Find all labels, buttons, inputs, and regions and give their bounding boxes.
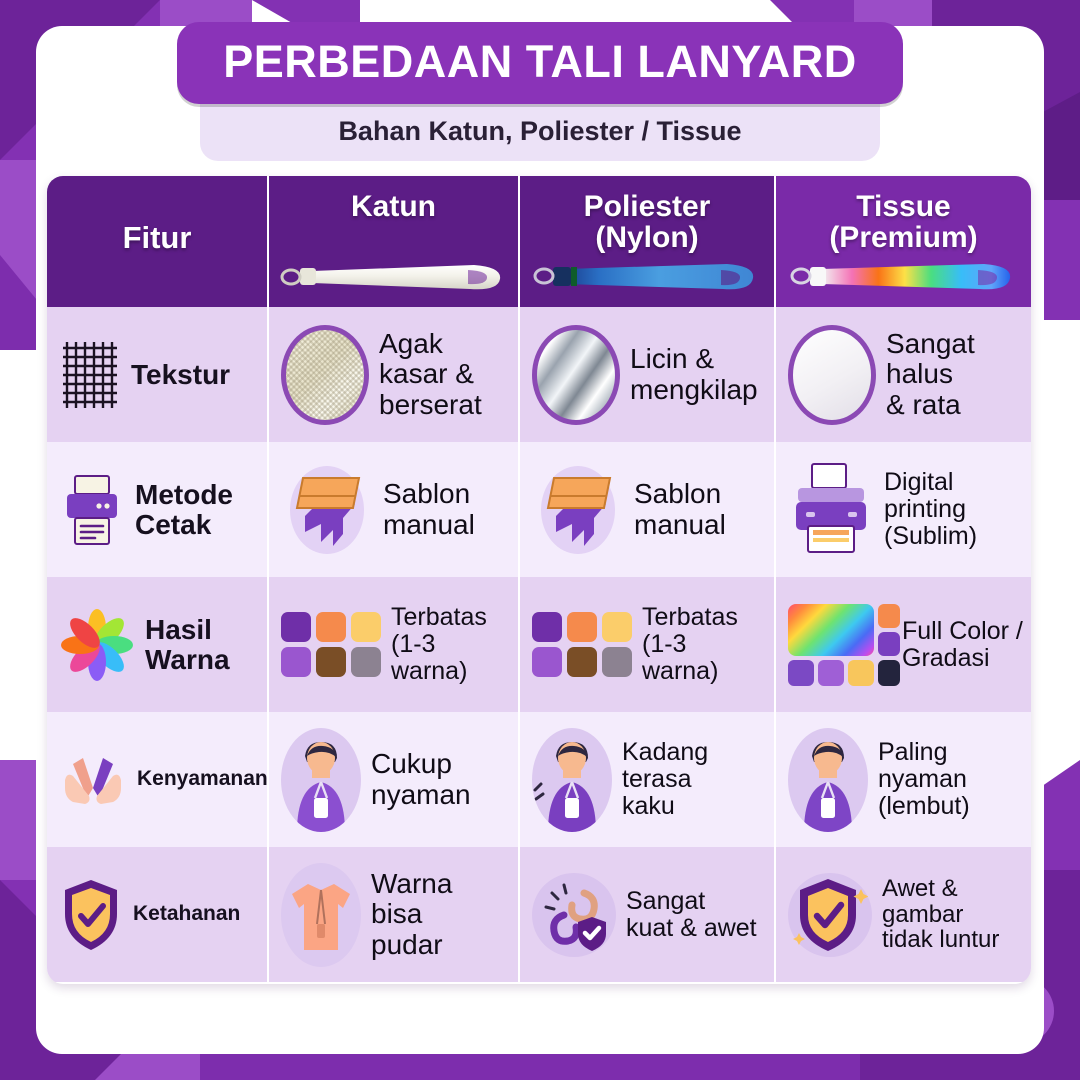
shield-figure [792,875,868,955]
value-line: manual [634,509,726,540]
chain-figure [536,877,612,953]
value-cell-poliester: Sablon manual [520,442,776,577]
column-header-tissue: Tissue (Premium) [776,176,1031,307]
color-swatch-fullcolor-icon [788,604,892,686]
column-header-label: Fitur [123,222,192,254]
page-subtitle: Bahan Katun, Poliester / Tissue [200,98,880,161]
value-line: pudar [371,929,443,960]
value-text: Kadang terasa kaku [622,739,708,820]
swatch [316,647,346,677]
value-line: Terbatas [391,603,487,631]
printer-icon [59,472,125,548]
value-line: mengkilap [630,374,758,405]
feature-cell: Ketahanan [47,847,269,982]
value-text: Terbatas (1-3 warna) [391,604,510,685]
table-row-kenyamanan: Kenyamanan Cukup nyaman [47,712,1031,847]
value-line: Digital [884,468,953,496]
feature-label: Kenyamanan [137,768,268,790]
feature-label-line: Warna [145,644,230,675]
column-header-label-line1: Tissue [856,190,951,223]
value-cell-katun: Warna bisa pudar [269,847,520,982]
shield-sparkle-icon [788,873,872,957]
value-cell-tissue: Full Color / Gradasi [776,577,1031,712]
swatch [567,612,597,642]
feature-label-line: Hasil [145,614,212,645]
woven-mesh-icon [59,336,121,414]
feature-label: Hasil Warna [145,615,230,674]
value-line: terasa [622,765,691,793]
column-header-label: Tissue (Premium) [829,192,977,253]
value-line: Paling [878,738,948,766]
value-line: kasar & [379,358,474,389]
value-text: Licin & mengkilap [630,344,758,404]
column-header-label-line2: (Nylon) [595,221,698,254]
value-line: nyaman [371,779,471,810]
lanyard-blue-nylon-icon [531,253,763,299]
value-text: Sangat kuat & awet [626,888,757,942]
value-line: kaku [622,792,675,820]
swatch [818,660,844,686]
value-cell-tissue: Digital printing (Sublim) [776,442,1031,577]
value-cell-poliester: Kadang terasa kaku [520,712,776,847]
value-line: Awet & [882,875,958,902]
value-cell-katun: Terbatas (1-3 warna) [269,577,520,712]
feature-cell: Kenyamanan [47,712,269,847]
value-line: Sangat [626,887,705,915]
swatch [532,612,562,642]
texture-swatch-cotton-icon [281,325,369,425]
value-cell-katun: Cukup nyaman [269,712,520,847]
value-text: Full Color / Gradasi [902,618,1023,672]
value-text: Awet & gambar tidak luntur [882,876,999,954]
value-cell-poliester: Sangat kuat & awet [520,847,776,982]
table-row-tekstur: Tekstur Agak kasar & berserat Licin & me… [47,307,1031,442]
person-stiff-lanyard-icon [532,728,612,832]
texture-swatch-tissue-icon [788,325,876,425]
person-comfortable-lanyard-icon [788,728,868,832]
value-line: Warna [371,868,452,899]
column-header-katun: Katun [269,176,520,307]
value-text: Sablon manual [383,479,475,539]
infographic-root: PERBEDAAN TALI LANYARD Bahan Katun, Poli… [0,0,1080,1080]
value-line: Sablon [634,478,721,509]
value-line: gambar [882,901,963,928]
table-row-hasil-warna: Hasil Warna Terbatas (1-3 warna) [47,577,1031,712]
value-line: Cukup [371,748,452,779]
value-line: halus [886,358,953,389]
swatch [602,612,632,642]
header: PERBEDAAN TALI LANYARD Bahan Katun, Poli… [0,22,1080,161]
swatch [848,660,874,686]
person-figure [532,736,612,832]
table-row-ketahanan: Ketahanan Warna bisa pudar [47,847,1031,982]
value-cell-tissue: Sangat halus & rata [776,307,1031,442]
column-header-label: Poliester (Nylon) [584,192,711,253]
value-line: printing [884,495,966,523]
swatch [316,612,346,642]
swatch [351,647,381,677]
screen-print-squeegee-icon [532,460,624,560]
person-wearing-lanyard-icon [281,728,361,832]
swatch [281,612,311,642]
lanyard-rainbow-tissue-icon [788,253,1020,299]
page-title: PERBEDAAN TALI LANYARD [177,22,903,104]
value-text: Cukup nyaman [371,749,471,809]
value-line: Gradasi [902,644,990,672]
value-line: Sablon [383,478,470,509]
swatch [878,632,900,656]
value-text: Terbatas (1-3 warna) [642,604,766,685]
value-line: (1-3 warna) [391,630,467,685]
screen-print-squeegee-icon [281,460,373,560]
column-header-label-line1: Poliester [584,190,711,223]
digital-printer-icon [788,460,874,560]
color-swatch-limited-icon [532,612,632,677]
feature-label-line: Cetak [135,509,211,540]
value-line: bisa [371,898,422,929]
value-line: (1-3 warna) [642,630,718,685]
swatch [788,660,814,686]
swatch [878,604,900,628]
color-flower-icon [59,607,135,683]
value-line: Sangat [886,328,975,359]
lanyard-white-cotton-icon [278,253,510,299]
value-cell-katun: Sablon manual [269,442,520,577]
value-cell-poliester: Licin & mengkilap [520,307,776,442]
person-figure [281,736,361,832]
feature-label: Ketahanan [133,903,240,925]
value-line: berserat [379,389,482,420]
texture-swatch-polyester-icon [532,325,620,425]
feature-label: Tekstur [131,360,230,389]
value-cell-katun: Agak kasar & berserat [269,307,520,442]
value-line: Licin & [630,343,714,374]
value-line: manual [383,509,475,540]
column-header-poliester: Poliester (Nylon) [520,176,776,307]
value-text: Paling nyaman (lembut) [878,739,970,820]
value-cell-tissue: Awet & gambar tidak luntur [776,847,1031,982]
faded-shirt-lanyard-icon [281,863,361,967]
value-text: Sangat halus & rata [886,329,975,420]
swatch [532,647,562,677]
swatch [567,647,597,677]
value-cell-tissue: Paling nyaman (lembut) [776,712,1031,847]
value-text: Agak kasar & berserat [379,329,482,420]
feature-cell: Metode Cetak [47,442,269,577]
column-header-label: Katun [351,192,436,223]
comparison-table: Fitur Katun [47,176,1031,984]
gradient-swatch [788,604,874,656]
value-text: Digital printing (Sublim) [884,469,977,550]
value-line: (lembut) [878,792,970,820]
value-line: kuat & awet [626,914,757,942]
swatch [281,647,311,677]
value-line: Full Color / [902,617,1023,645]
chain-shield-icon [532,873,616,957]
feature-cell: Hasil Warna [47,577,269,712]
column-header-label-line2: (Premium) [829,221,977,254]
shield-check-icon [59,876,123,954]
swatch [878,660,900,686]
value-line: tidak luntur [882,926,999,953]
value-text: Warna bisa pudar [371,869,452,960]
value-text: Sablon manual [634,479,726,539]
table-row-metode-cetak: Metode Cetak Sablon manual [47,442,1031,577]
value-line: & rata [886,389,961,420]
swatch [602,647,632,677]
value-line: Kadang [622,738,708,766]
value-line: (Sublim) [884,522,977,550]
person-figure [788,736,868,832]
shirt-figure [282,870,360,960]
value-line: Agak [379,328,443,359]
table-header-row: Fitur Katun [47,176,1031,307]
feature-label-line: Metode [135,479,233,510]
value-line: nyaman [878,765,967,793]
value-cell-poliester: Terbatas (1-3 warna) [520,577,776,712]
swatch [351,612,381,642]
column-header-fitur: Fitur [47,176,269,307]
feature-cell: Tekstur [47,307,269,442]
caring-hands-icon [59,744,127,816]
feature-label: Metode Cetak [135,480,233,539]
value-line: Terbatas [642,603,738,631]
color-swatch-limited-icon [281,612,381,677]
